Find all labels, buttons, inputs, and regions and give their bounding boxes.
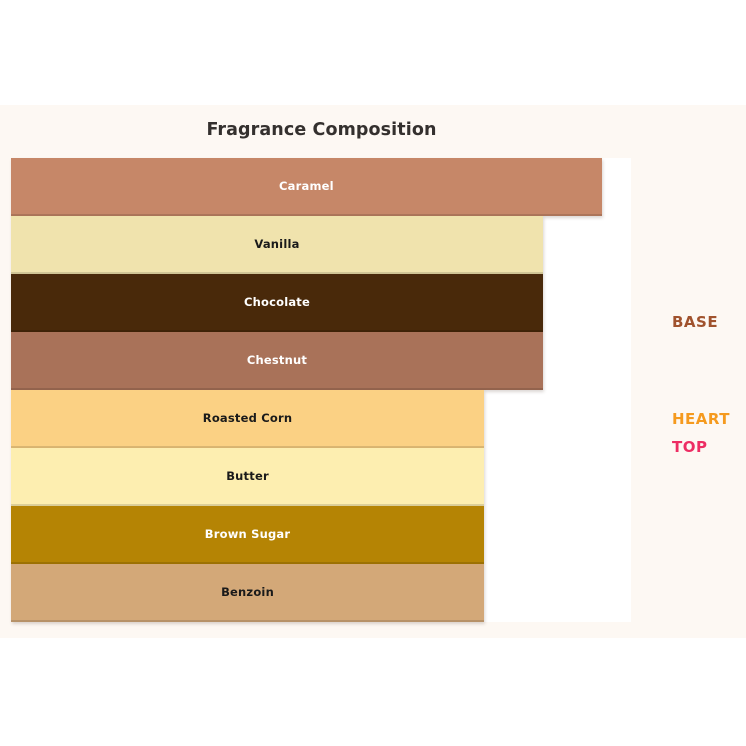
plot-area: CaramelVanillaChocolateChestnutRoasted C… xyxy=(11,158,631,622)
bar-label: Chestnut xyxy=(247,353,307,367)
chart-canvas: Fragrance Composition CaramelVanillaChoc… xyxy=(0,0,746,746)
bar-label: Butter xyxy=(226,469,269,483)
tier-label-heart: HEART xyxy=(672,410,730,428)
bar-label: Brown Sugar xyxy=(205,527,291,541)
tier-label-top: TOP xyxy=(672,438,707,456)
bar-label: Benzoin xyxy=(221,585,274,599)
bar-label: Roasted Corn xyxy=(203,411,293,425)
bar-butter[interactable]: Butter xyxy=(11,448,484,506)
bar-benzoin[interactable]: Benzoin xyxy=(11,564,484,622)
bar-caramel[interactable]: Caramel xyxy=(11,158,602,216)
bar-label: Chocolate xyxy=(244,295,310,309)
tier-label-base: BASE xyxy=(672,313,718,331)
bar-brown-sugar[interactable]: Brown Sugar xyxy=(11,506,484,564)
bar-label: Caramel xyxy=(279,179,334,193)
bar-label: Vanilla xyxy=(254,237,299,251)
page-title: Fragrance Composition xyxy=(0,120,643,140)
bar-chestnut[interactable]: Chestnut xyxy=(11,332,543,390)
bar-vanilla[interactable]: Vanilla xyxy=(11,216,543,274)
bar-roasted-corn[interactable]: Roasted Corn xyxy=(11,390,484,448)
bar-chocolate[interactable]: Chocolate xyxy=(11,274,543,332)
